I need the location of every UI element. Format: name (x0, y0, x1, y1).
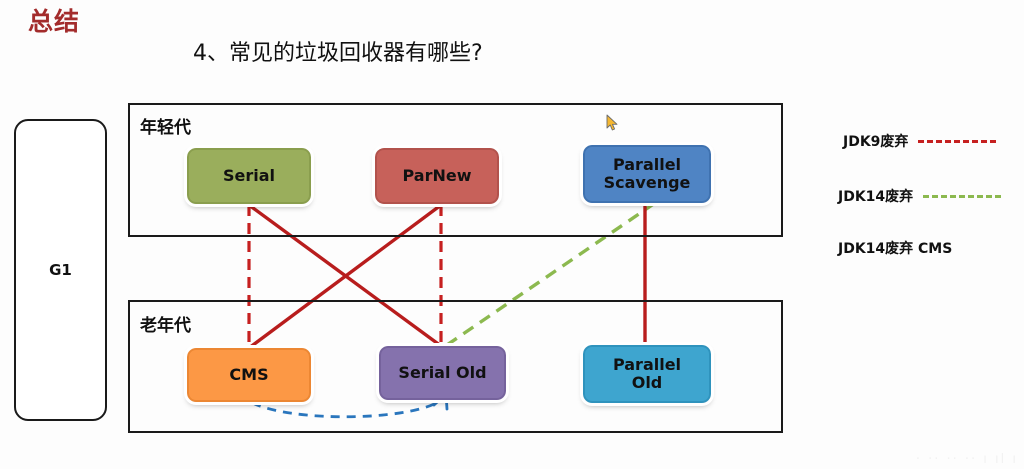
slide-canvas: 总结 4、常见的垃圾回收器有哪些? G1 年轻代 老年代 Serial ParN… (0, 0, 1024, 469)
collector-label-serial: Serial (219, 167, 279, 185)
watermark: · ·· ·· ·· ı ıl ı (916, 452, 1018, 467)
collector-chip-cms[interactable]: CMS (187, 348, 311, 402)
collector-chip-parallel-scavenge[interactable]: Parallel Scavenge (583, 145, 711, 203)
young-generation-label: 年轻代 (140, 113, 191, 138)
collector-chip-parnew[interactable]: ParNew (375, 148, 499, 204)
legend-row-jdk14-cms: JDK14废弃 CMS (838, 238, 952, 258)
g1-box[interactable]: G1 (14, 119, 107, 421)
legend-row-jdk9: JDK9废弃 (843, 131, 996, 151)
question-text: 4、常见的垃圾回收器有哪些? (193, 35, 483, 67)
collector-chip-serial-old[interactable]: Serial Old (379, 346, 506, 400)
legend-label-jdk14-cms: JDK14废弃 CMS (838, 238, 952, 258)
collector-label-parallel-old: Parallel Old (609, 356, 685, 392)
g1-label: G1 (49, 261, 72, 279)
collector-label-serial-old: Serial Old (394, 364, 490, 382)
collector-chip-parallel-old[interactable]: Parallel Old (583, 345, 711, 403)
old-generation-label: 老年代 (140, 311, 191, 336)
legend-row-jdk14: JDK14废弃 (838, 186, 1001, 206)
page-title: 总结 (28, 2, 80, 38)
mouse-cursor-icon (606, 114, 619, 132)
collector-label-parnew: ParNew (398, 167, 475, 185)
collector-label-cms: CMS (225, 366, 272, 384)
legend-dash-red-icon (918, 140, 996, 143)
legend-label-jdk9: JDK9废弃 (843, 131, 908, 151)
collector-label-parallel-scavenge: Parallel Scavenge (600, 156, 695, 192)
collector-chip-serial[interactable]: Serial (187, 148, 311, 204)
legend-label-jdk14: JDK14废弃 (838, 186, 913, 206)
legend-dash-green-icon (923, 195, 1001, 198)
